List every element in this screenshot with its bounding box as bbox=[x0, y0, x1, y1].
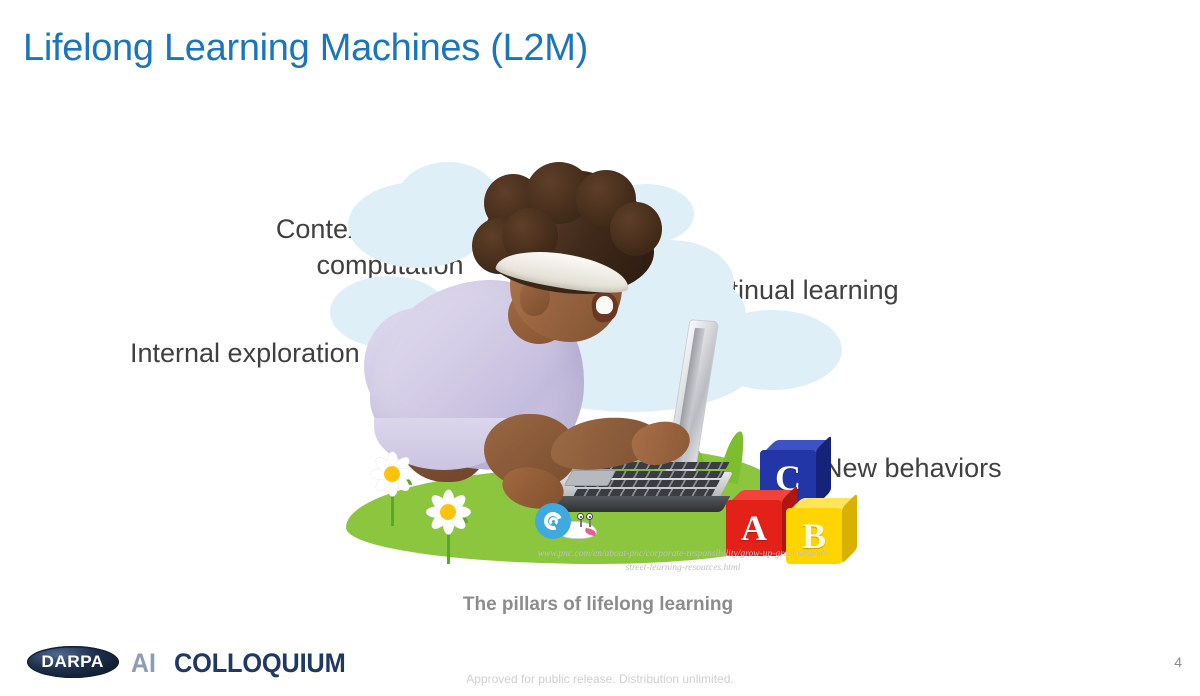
baby-mouth-highlight bbox=[596, 296, 613, 314]
pillar-label-internal-exploration: Internal exploration bbox=[130, 336, 360, 372]
figure-caption: The pillars of lifelong learning bbox=[0, 594, 1200, 616]
illustration-baby-with-laptop: C A B bbox=[330, 168, 850, 568]
darpa-logo-text: DARPA bbox=[42, 652, 104, 672]
release-note: Approved for public release. Distributio… bbox=[0, 672, 1200, 686]
page-number: 4 bbox=[1174, 654, 1182, 670]
baby-hair-curl bbox=[610, 202, 662, 256]
figure-caption-text: The pillars of lifelong learning bbox=[463, 594, 733, 615]
snail-icon bbox=[535, 501, 597, 541]
image-source-url: www.pnc.com/en/about-pnc/corporate-respo… bbox=[533, 548, 833, 576]
slide: Lifelong Learning Machines (L2M) Context… bbox=[0, 0, 1200, 696]
page-title: Lifelong Learning Machines (L2M) bbox=[23, 27, 588, 70]
